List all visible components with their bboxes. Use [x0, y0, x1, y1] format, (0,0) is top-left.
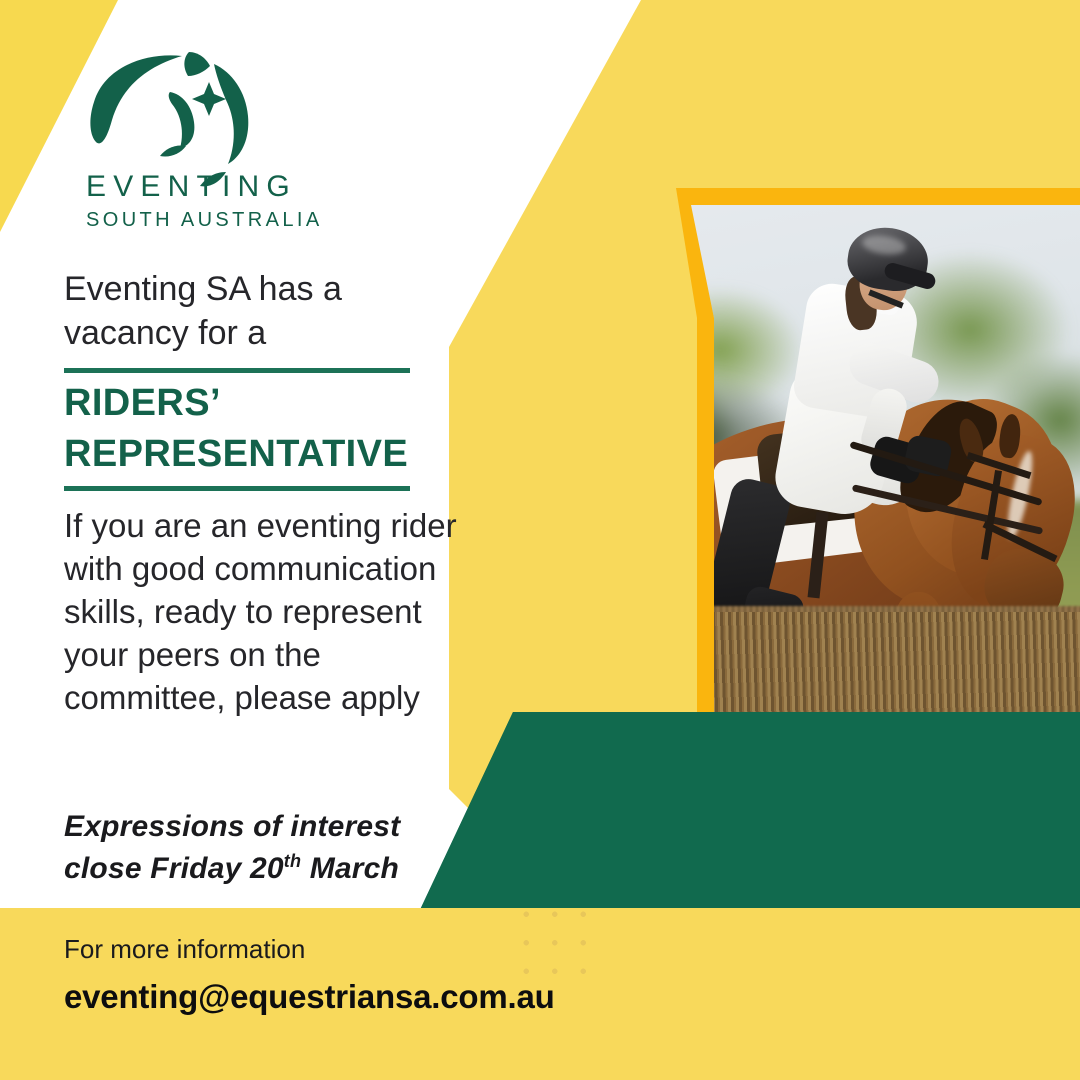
- headline-rule-bottom: [64, 486, 410, 491]
- deadline-text: Expressions of interest close Friday 20t…: [64, 806, 464, 890]
- page-title: RIDERS’ REPRESENTATIVE: [64, 378, 464, 481]
- body-text: If you are an eventing rider with good c…: [64, 505, 464, 719]
- contact-email[interactable]: eventing@equestriansa.com.au: [64, 978, 555, 1016]
- deadline-suffix: March: [301, 852, 399, 885]
- dot-grid-icon: [510, 898, 596, 984]
- poster-canvas: EVENTING SOUTH AUSTRALIA Eventing SA has…: [0, 0, 1080, 1080]
- deadline-superscript: th: [284, 851, 301, 871]
- logo-subtitle: SOUTH AUSTRALIA: [86, 210, 356, 230]
- headline-line-2: REPRESENTATIVE: [64, 429, 464, 480]
- intro-text: Eventing SA has a vacancy for a: [64, 268, 434, 355]
- headline-rule-top: [64, 368, 410, 373]
- more-info-label: For more information: [64, 934, 305, 965]
- logo-wordmark: EVENTING SOUTH AUSTRALIA: [86, 172, 356, 230]
- headline-line-1: RIDERS’: [64, 378, 464, 429]
- logo-name: EVENTING: [86, 172, 356, 202]
